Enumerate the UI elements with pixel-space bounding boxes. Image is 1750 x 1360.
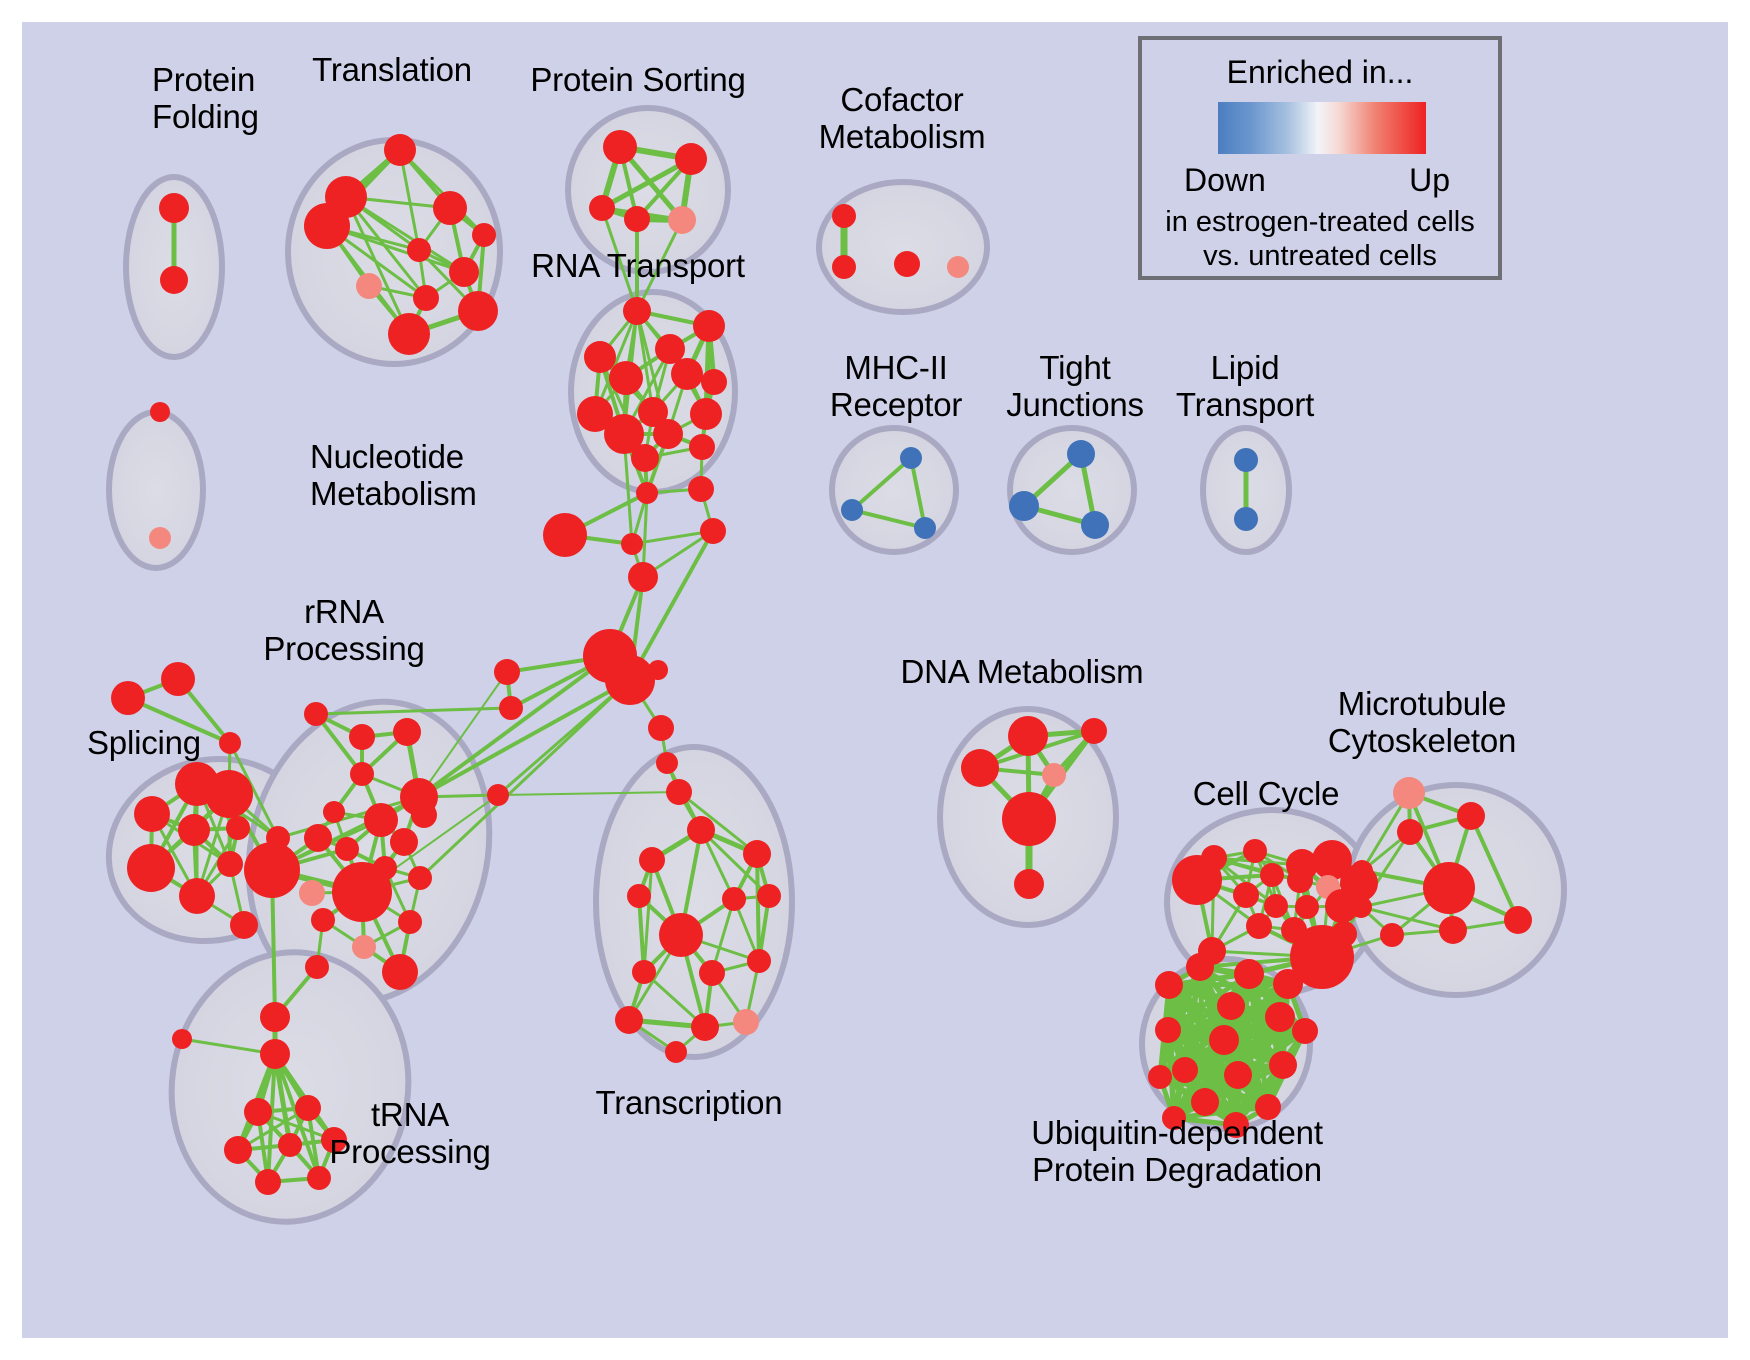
gene-set-node[interactable]	[356, 273, 382, 299]
legend-up-label: Up	[1409, 162, 1450, 199]
gene-set-node[interactable]	[398, 910, 422, 934]
gene-set-node[interactable]	[675, 143, 707, 175]
cluster-label-translation: Translation	[312, 52, 472, 89]
gene-set-node[interactable]	[244, 842, 300, 898]
gene-set-node[interactable]	[689, 434, 715, 460]
gene-set-node[interactable]	[161, 662, 195, 696]
cluster-label-lipid-transport: Lipid Transport	[1176, 350, 1314, 424]
gene-set-node[interactable]	[636, 482, 658, 504]
gene-set-node[interactable]	[388, 313, 430, 355]
gene-set-node[interactable]	[382, 954, 418, 990]
gene-set-node[interactable]	[1002, 792, 1056, 846]
gene-set-node[interactable]	[1081, 718, 1107, 744]
gene-set-node[interactable]	[584, 341, 616, 373]
gene-set-node[interactable]	[244, 1098, 272, 1126]
cluster-label-rrna-processing: rRNA Processing	[263, 594, 424, 668]
gene-set-node[interactable]	[390, 828, 418, 856]
gene-set-node[interactable]	[621, 533, 643, 555]
cluster-label-ubiquitin-protein-degradation: Ubiquitin-dependent Protein Degradation	[1031, 1115, 1323, 1189]
gene-set-node[interactable]	[1172, 855, 1222, 905]
gene-set-node[interactable]	[179, 878, 215, 914]
gene-set-node[interactable]	[1081, 511, 1109, 539]
gene-set-node[interactable]	[832, 255, 856, 279]
gene-set-node[interactable]	[589, 195, 615, 221]
gene-set-node[interactable]	[494, 659, 520, 685]
cluster-label-transcription: Transcription	[596, 1085, 783, 1122]
cluster-label-mhc-ii-receptor: MHC-II Receptor	[830, 350, 962, 424]
gene-set-node[interactable]	[172, 1029, 192, 1049]
gene-set-node[interactable]	[1264, 894, 1288, 918]
gene-set-node[interactable]	[700, 518, 726, 544]
cluster-label-trna-processing: tRNA Processing	[329, 1097, 490, 1171]
gene-set-node[interactable]	[1243, 839, 1267, 863]
gene-set-node[interactable]	[1234, 507, 1258, 531]
gene-set-node[interactable]	[433, 191, 467, 225]
gene-set-node[interactable]	[603, 130, 637, 164]
gene-set-node[interactable]	[255, 1169, 281, 1195]
gene-set-node[interactable]	[1393, 777, 1425, 809]
gene-set-node[interactable]	[384, 134, 416, 166]
gene-set-node[interactable]	[914, 517, 936, 539]
gene-set-node[interactable]	[323, 801, 345, 823]
gene-set-node[interactable]	[260, 1002, 290, 1032]
gene-set-node[interactable]	[609, 361, 643, 395]
gene-set-node[interactable]	[900, 447, 922, 469]
gene-set-node[interactable]	[1186, 953, 1214, 981]
gene-set-node[interactable]	[205, 770, 253, 818]
cluster-label-protein-sorting: Protein Sorting	[530, 62, 745, 99]
gene-set-node[interactable]	[299, 880, 325, 906]
gene-set-node[interactable]	[1504, 906, 1532, 934]
gene-set-node[interactable]	[757, 884, 781, 908]
gene-set-node[interactable]	[1260, 863, 1284, 887]
gene-set-node[interactable]	[1273, 969, 1303, 999]
cluster-label-cofactor-metabolism: Cofactor Metabolism	[819, 82, 986, 156]
gene-set-node[interactable]	[230, 911, 258, 939]
gene-set-node[interactable]	[413, 285, 439, 311]
gene-set-node[interactable]	[149, 527, 171, 549]
gene-set-node[interactable]	[1350, 896, 1372, 918]
gene-set-node[interactable]	[743, 840, 771, 868]
gene-set-node[interactable]	[1457, 802, 1485, 830]
legend-down-label: Down	[1184, 162, 1266, 199]
gene-set-node[interactable]	[305, 955, 329, 979]
gene-set-node[interactable]	[543, 513, 587, 557]
gene-set-node[interactable]	[671, 358, 703, 390]
gene-set-node[interactable]	[1234, 959, 1264, 989]
gene-set-node[interactable]	[631, 444, 659, 472]
gene-set-node[interactable]	[487, 784, 509, 806]
gene-set-node[interactable]	[150, 402, 170, 422]
gene-set-node[interactable]	[1191, 1088, 1219, 1116]
legend-subtitle-line2: vs. untreated cells	[1142, 240, 1498, 273]
gene-set-node[interactable]	[653, 419, 683, 449]
gene-set-node[interactable]	[1423, 862, 1475, 914]
gene-set-node[interactable]	[1155, 971, 1183, 999]
gene-set-node[interactable]	[659, 913, 703, 957]
network-background: Protein FoldingTranslationProtein Sortin…	[22, 22, 1728, 1338]
gene-set-node[interactable]	[690, 398, 722, 430]
gene-set-node[interactable]	[1380, 923, 1404, 947]
gene-set-node[interactable]	[639, 847, 665, 873]
gene-set-node[interactable]	[894, 251, 920, 277]
gene-set-node[interactable]	[178, 814, 210, 846]
gene-set-node[interactable]	[1287, 867, 1313, 893]
edge	[630, 531, 713, 680]
gene-set-node[interactable]	[352, 935, 376, 959]
gene-set-node[interactable]	[1269, 1051, 1297, 1079]
gene-set-node[interactable]	[627, 884, 651, 908]
gene-set-node[interactable]	[1172, 1057, 1198, 1083]
cluster-label-nucleotide-metabolism: Nucleotide Metabolism	[310, 439, 477, 513]
gene-set-node[interactable]	[134, 796, 170, 832]
gene-set-node[interactable]	[632, 960, 656, 984]
gene-set-node[interactable]	[1246, 913, 1272, 939]
cluster-label-splicing: Splicing	[87, 725, 201, 762]
gene-set-node[interactable]	[311, 908, 335, 932]
gene-set-node[interactable]	[304, 824, 332, 852]
gene-set-node[interactable]	[722, 887, 746, 911]
gene-set-node[interactable]	[832, 204, 856, 228]
gene-set-node[interactable]	[624, 206, 650, 232]
legend-subtitle-line1: in estrogen-treated cells	[1142, 206, 1498, 239]
gene-set-node[interactable]	[217, 851, 243, 877]
gene-set-node[interactable]	[701, 369, 727, 395]
gene-set-node[interactable]	[1397, 819, 1423, 845]
gene-set-node[interactable]	[1233, 882, 1259, 908]
gene-set-node[interactable]	[699, 960, 725, 986]
gene-set-node[interactable]	[615, 1006, 643, 1034]
gene-set-node[interactable]	[160, 266, 188, 294]
cluster-label-cell-cycle: Cell Cycle	[1193, 776, 1340, 813]
gene-set-node[interactable]	[408, 866, 432, 890]
gene-set-node[interactable]	[688, 476, 714, 502]
gene-set-node[interactable]	[665, 1041, 687, 1063]
gene-set-node[interactable]	[656, 752, 678, 774]
cluster-label-protein-folding: Protein Folding	[152, 62, 259, 136]
edge	[757, 854, 759, 961]
gene-set-node[interactable]	[407, 238, 431, 262]
gene-set-node[interactable]	[1009, 491, 1039, 521]
gene-set-node[interactable]	[628, 562, 658, 592]
cluster-label-dna-metabolism: DNA Metabolism	[901, 654, 1144, 691]
color-gradient-bar	[1218, 102, 1426, 154]
gene-set-node[interactable]	[1014, 869, 1044, 899]
cluster-label-rna-transport: RNA Transport	[531, 248, 745, 285]
gene-set-node[interactable]	[733, 1009, 759, 1035]
gene-set-node[interactable]	[1234, 448, 1258, 472]
gene-set-node[interactable]	[1295, 895, 1319, 919]
gene-set-node[interactable]	[260, 1039, 290, 1069]
gene-set-node[interactable]	[499, 696, 523, 720]
gene-set-node[interactable]	[668, 206, 696, 234]
gene-set-node[interactable]	[687, 816, 715, 844]
gene-set-node[interactable]	[226, 816, 250, 840]
gene-set-node[interactable]	[393, 718, 421, 746]
gene-set-node[interactable]	[1008, 716, 1048, 756]
gene-set-node[interactable]	[278, 1133, 302, 1157]
gene-set-node[interactable]	[1292, 1018, 1318, 1044]
gene-set-node[interactable]	[449, 257, 479, 287]
gene-set-node[interactable]	[1439, 916, 1467, 944]
gene-set-node[interactable]	[691, 1013, 719, 1041]
gene-set-node[interactable]	[224, 1136, 252, 1164]
gene-set-node[interactable]	[623, 297, 651, 325]
gene-set-node[interactable]	[304, 203, 350, 249]
gene-set-node[interactable]	[458, 291, 498, 331]
gene-set-node[interactable]	[1224, 1061, 1252, 1089]
gene-set-node[interactable]	[648, 715, 674, 741]
gene-set-node[interactable]	[335, 837, 359, 861]
cluster-label-tight-junctions: Tight Junctions	[1006, 350, 1144, 424]
gene-set-node[interactable]	[304, 702, 328, 726]
gene-set-node[interactable]	[605, 655, 655, 705]
gene-set-node[interactable]	[411, 802, 437, 828]
gene-set-node[interactable]	[373, 856, 397, 880]
gene-set-node[interactable]	[349, 724, 375, 750]
gene-set-node[interactable]	[472, 223, 496, 247]
gene-set-node[interactable]	[307, 1166, 331, 1190]
gene-set-node[interactable]	[747, 949, 771, 973]
gene-set-node[interactable]	[364, 803, 398, 837]
gene-set-node[interactable]	[841, 499, 863, 521]
legend-title: Enriched in...	[1142, 54, 1498, 91]
gene-set-node[interactable]	[947, 256, 969, 278]
gene-set-node[interactable]	[693, 310, 725, 342]
gene-set-node[interactable]	[1265, 1002, 1295, 1032]
gene-set-node[interactable]	[350, 762, 374, 786]
gene-set-node[interactable]	[159, 193, 189, 223]
gene-set-node[interactable]	[1155, 1017, 1181, 1043]
gene-set-node[interactable]	[1042, 763, 1066, 787]
gene-set-node[interactable]	[961, 749, 999, 787]
cluster-hull-mhc-ii-receptor[interactable]	[832, 428, 956, 552]
gene-set-node[interactable]	[666, 779, 692, 805]
figure-canvas: Protein FoldingTranslationProtein Sortin…	[0, 0, 1750, 1360]
gene-set-node[interactable]	[127, 844, 175, 892]
gene-set-node[interactable]	[1067, 440, 1095, 468]
legend-box: Enriched in... Down Up in estrogen-treat…	[1138, 36, 1502, 280]
gene-set-node[interactable]	[1217, 992, 1245, 1020]
gene-set-node[interactable]	[1351, 860, 1373, 882]
gene-set-node[interactable]	[1209, 1025, 1239, 1055]
gene-set-node[interactable]	[1148, 1065, 1172, 1089]
gene-set-node[interactable]	[111, 681, 145, 715]
gene-set-node[interactable]	[295, 1095, 321, 1121]
gene-set-node[interactable]	[219, 732, 241, 754]
cluster-label-microtubule-cytoskeleton: Microtubule Cytoskeleton	[1328, 686, 1516, 760]
